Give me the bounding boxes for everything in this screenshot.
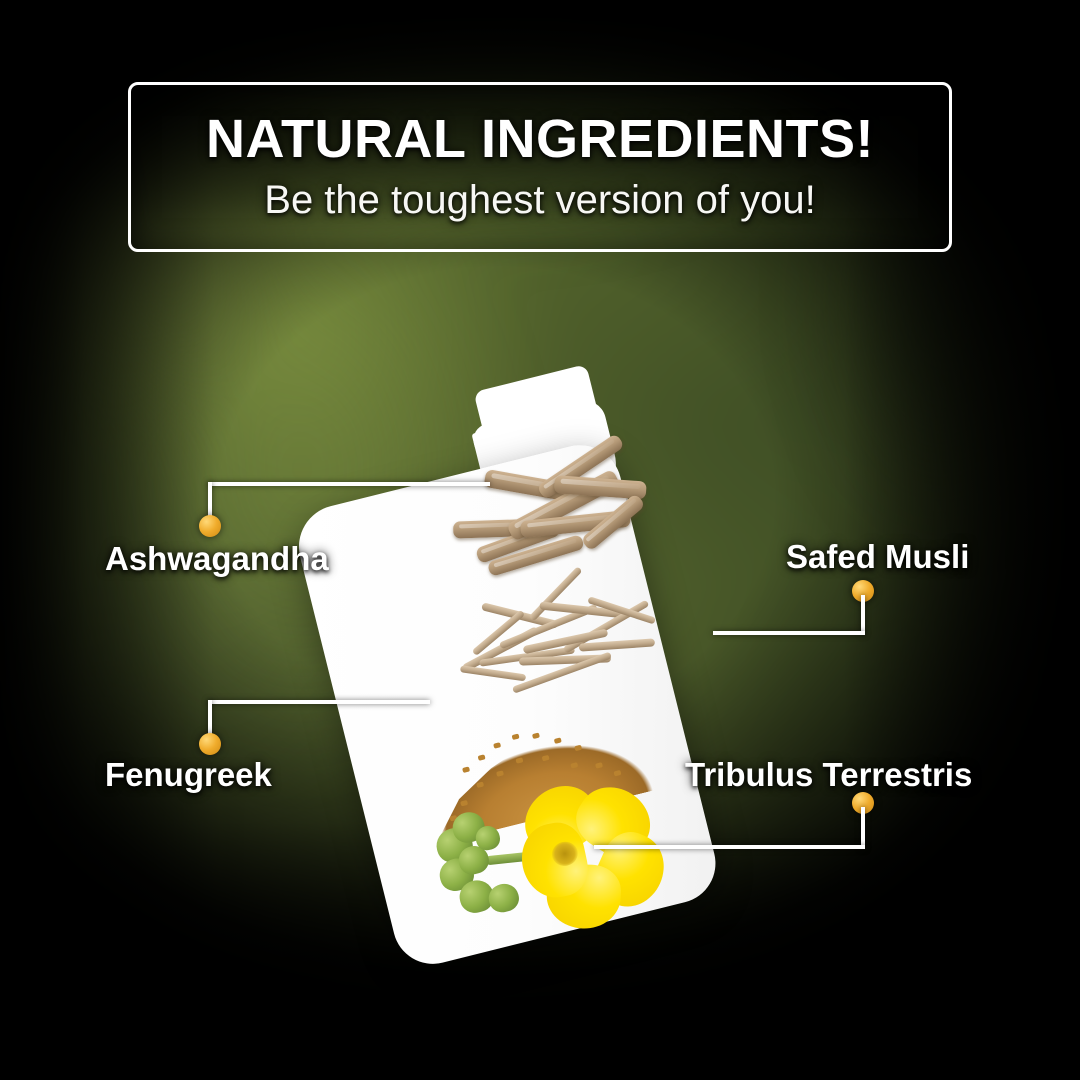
- connector-line-horizontal: [713, 631, 865, 635]
- connector-line-horizontal: [208, 700, 430, 704]
- callout-label-fenugreek: Fenugreek: [105, 756, 272, 794]
- callout-label-safed-musli: Safed Musli: [786, 538, 969, 576]
- callout-label-tribulus-terrestris: Tribulus Terrestris: [685, 756, 972, 794]
- headline-banner: NATURAL INGREDIENTS! Be the toughest ver…: [128, 82, 952, 252]
- connector-line-vertical: [861, 595, 865, 635]
- connector-line-vertical: [861, 807, 865, 849]
- connector-line-horizontal: [594, 845, 865, 849]
- callout-dot: [199, 515, 221, 537]
- page-title: NATURAL INGREDIENTS!: [206, 112, 874, 167]
- connector-line-horizontal: [208, 482, 490, 486]
- page-subtitle: Be the toughest version of you!: [264, 178, 815, 222]
- callout-dot: [199, 733, 221, 755]
- poster-canvas: NATURAL INGREDIENTS! Be the toughest ver…: [0, 0, 1080, 1080]
- callout-label-ashwagandha: Ashwagandha: [105, 540, 329, 578]
